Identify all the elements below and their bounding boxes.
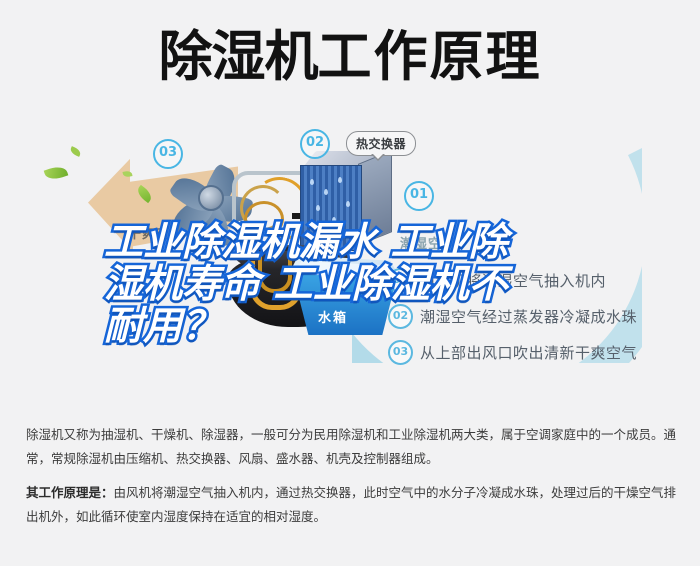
body-paragraph-1: 除湿机又称为抽湿机、干燥机、除湿器，一般可分为民用除湿机和工业除湿机两大类，属于…: [26, 423, 678, 471]
overlay-headline: 工业除湿机漏水 工业除 湿机寿命 工业除湿机不 耐用？: [104, 222, 624, 348]
leaf-icon: [44, 164, 69, 182]
body-paragraph-2-lead: 其工作原理是：: [26, 485, 114, 500]
body-paragraph-2: 其工作原理是：由风机将潮湿空气抽入机内，通过热交换器，此时空气中的水分子冷凝成水…: [26, 481, 678, 529]
leaf-icon: [69, 146, 82, 157]
marker-03: 03: [153, 139, 183, 169]
overlay-headline-line-3: 耐用？: [104, 306, 624, 348]
marker-02: 02: [300, 129, 330, 159]
page-title: 除湿机工作原理: [0, 26, 700, 88]
fan-hub: [198, 185, 224, 211]
poster-canvas: 除湿机工作原理 干爽空气: [0, 0, 700, 566]
page-title-part-b: 工作原理: [318, 25, 542, 88]
overlay-headline-line-2: 湿机寿命 工业除湿机不: [104, 264, 624, 306]
marker-01: 01: [404, 181, 434, 211]
page-title-part-a: 除湿机: [159, 25, 318, 88]
heat-exchanger-callout: 热交换器: [346, 131, 416, 156]
overlay-headline-line-1: 工业除湿机漏水 工业除: [104, 222, 624, 264]
body-paragraph-2-rest: 由风机将潮湿空气抽入机内，通过热交换器，此时空气中的水分子冷凝成水珠，处理过后的…: [26, 485, 676, 524]
